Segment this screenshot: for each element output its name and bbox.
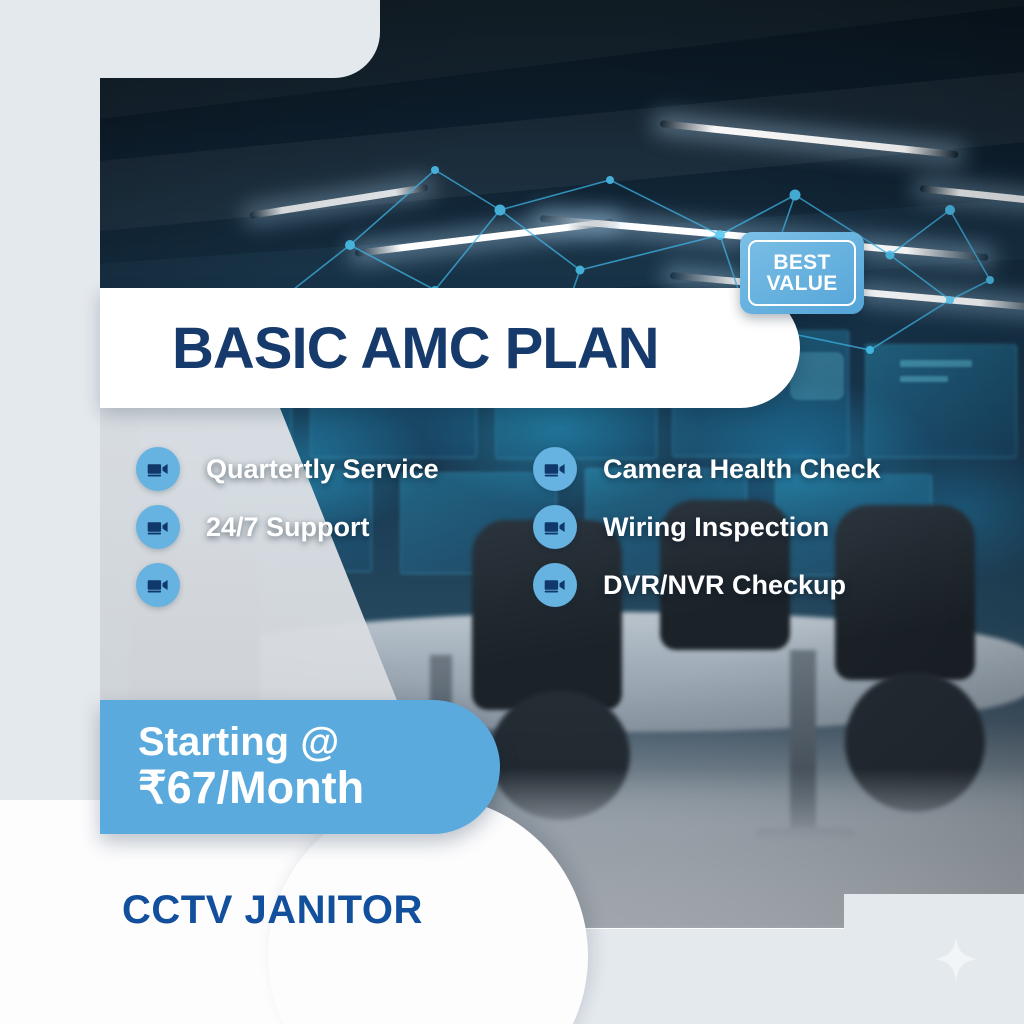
feature-column-right: Camera Health Check Wiring Inspection DV… xyxy=(533,440,881,614)
list-item: Camera Health Check xyxy=(533,440,881,498)
price-banner: Starting @ ₹67/Month xyxy=(100,700,500,834)
title-card: BASIC AMC PLAN xyxy=(100,288,800,408)
feature-label: Camera Health Check xyxy=(603,454,881,485)
list-item: 24/7 Support xyxy=(136,498,439,556)
video-camera-icon xyxy=(533,563,577,607)
video-camera-icon xyxy=(136,505,180,549)
feature-label: Wiring Inspection xyxy=(603,512,829,543)
sparkle-icon xyxy=(933,936,979,982)
price-prefix: Starting @ xyxy=(138,721,500,764)
feature-label: DVR/NVR Checkup xyxy=(603,570,846,601)
badge-line-2: VALUE xyxy=(766,273,837,294)
list-item: Quartertly Service xyxy=(136,440,439,498)
list-item: DVR/NVR Checkup xyxy=(533,556,881,614)
frame-plate-left xyxy=(0,0,100,800)
status-badge: BEST VALUE xyxy=(740,232,864,314)
list-item xyxy=(136,556,439,614)
feature-label: 24/7 Support xyxy=(206,512,370,543)
video-camera-icon xyxy=(136,563,180,607)
price-amount: ₹67/Month xyxy=(138,764,500,813)
video-camera-icon xyxy=(533,505,577,549)
feature-lists: Quartertly Service 24/7 Support Cam xyxy=(0,440,1024,640)
list-item: Wiring Inspection xyxy=(533,498,881,556)
feature-column-left: Quartertly Service 24/7 Support xyxy=(136,440,439,614)
feature-label: Quartertly Service xyxy=(206,454,439,485)
video-camera-icon xyxy=(136,447,180,491)
page-title: BASIC AMC PLAN xyxy=(172,315,659,382)
badge-line-1: BEST xyxy=(773,252,830,273)
video-camera-icon xyxy=(533,447,577,491)
promo-poster: BASIC AMC PLAN BEST VALUE Quartertly Ser… xyxy=(0,0,1024,1024)
brand-name: CCTV JANITOR xyxy=(122,888,423,933)
badge-inner-border: BEST VALUE xyxy=(748,240,856,306)
